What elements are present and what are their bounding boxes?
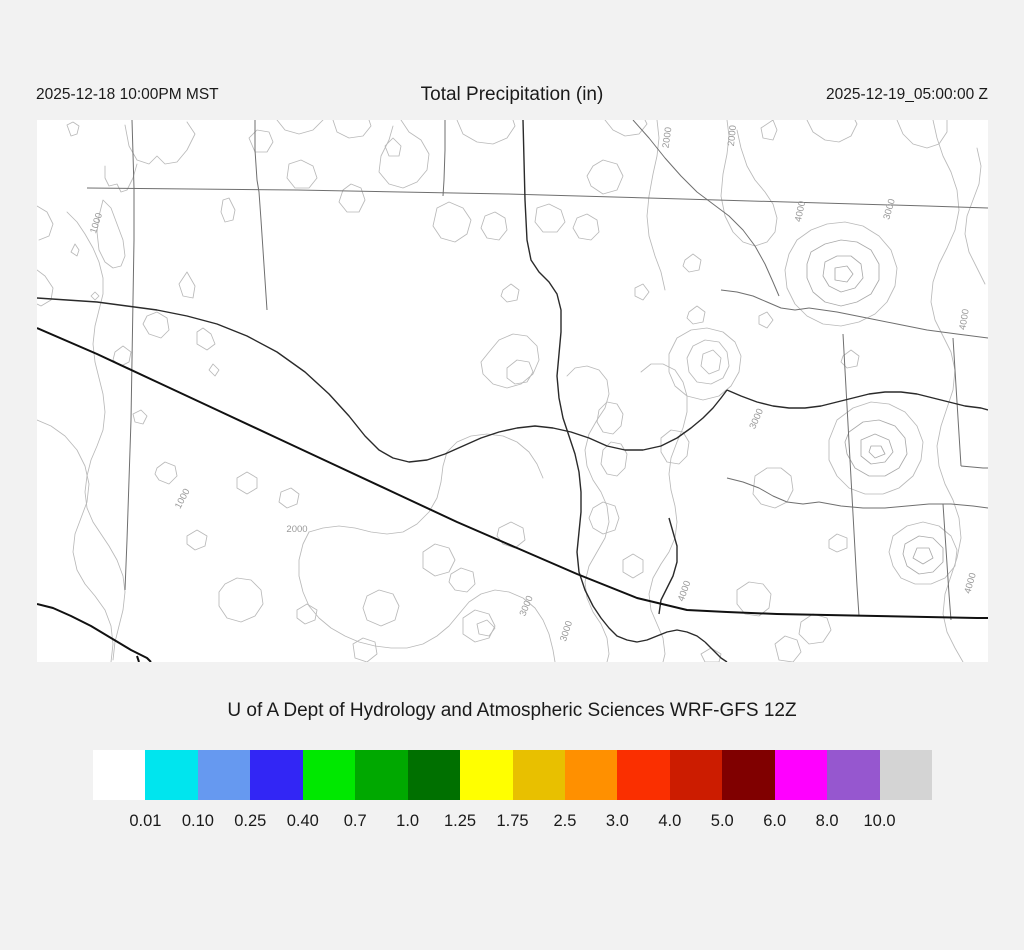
swatch-6.0[interactable]: [775, 750, 827, 800]
precipitation-colorbar[interactable]: [93, 750, 932, 800]
elevation-label-3000-3: 3000: [881, 198, 897, 221]
state-boundaries: [37, 120, 988, 662]
swatch-0.25[interactable]: [250, 750, 302, 800]
swatch-0.7[interactable]: [355, 750, 407, 800]
elevation-label-4000-11: 4000: [676, 579, 694, 603]
swatch-1.0[interactable]: [408, 750, 460, 800]
swatch-below-0.01[interactable]: [93, 750, 145, 800]
colorbar-tick-0.40: 0.40: [287, 812, 319, 831]
elevation-label-3000-6: 3000: [747, 407, 766, 431]
colorbar-tick-0.25: 0.25: [234, 812, 266, 831]
elevation-label-1000-0: 1000: [88, 211, 105, 235]
swatch-5.0[interactable]: [722, 750, 774, 800]
map-canvas: 1000200020003000400040003000100020003000…: [37, 120, 988, 662]
elevation-label-2000-2: 2000: [726, 125, 739, 147]
elevation-label-4000-4: 4000: [793, 200, 808, 223]
colorbar-tick-8.0: 8.0: [816, 812, 839, 831]
colorbar-tick-0.7: 0.7: [344, 812, 367, 831]
elevation-label-2000-1: 2000: [661, 126, 675, 148]
colorbar-tick-0.01: 0.01: [129, 812, 161, 831]
swatch-4.0[interactable]: [670, 750, 722, 800]
elevation-label-4000-5: 4000: [957, 308, 972, 331]
elevation-contour-labels: 1000200020003000400040003000100020003000…: [88, 125, 979, 643]
swatch-1.75[interactable]: [513, 750, 565, 800]
swatch-0.40[interactable]: [303, 750, 355, 800]
source-caption: U of A Dept of Hydrology and Atmospheric…: [0, 700, 1024, 722]
elevation-label-1000-7: 1000: [173, 487, 193, 511]
colorbar-tick-1.0: 1.0: [396, 812, 419, 831]
precipitation-map[interactable]: 1000200020003000400040003000100020003000…: [37, 120, 988, 662]
colorbar-tick-4.0: 4.0: [658, 812, 681, 831]
colorbar-tick-0.10: 0.10: [182, 812, 214, 831]
swatch-3.0[interactable]: [617, 750, 669, 800]
colorbar-tick-labels: 0.010.100.250.400.71.01.251.752.53.04.05…: [93, 812, 932, 834]
colorbar-tick-2.5: 2.5: [553, 812, 576, 831]
colorbar-swatches: [93, 750, 932, 800]
elevation-contours: [37, 120, 985, 662]
colorbar-tick-1.75: 1.75: [496, 812, 528, 831]
colorbar-tick-1.25: 1.25: [444, 812, 476, 831]
county-boundaries: [87, 120, 988, 620]
elevation-label-4000-12: 4000: [962, 572, 978, 595]
colorbar-tick-6.0: 6.0: [763, 812, 786, 831]
elevation-label-2000-8: 2000: [286, 524, 307, 535]
swatch-0.01[interactable]: [145, 750, 197, 800]
swatch-1.25[interactable]: [460, 750, 512, 800]
header-band: 2025-12-18 10:00PM MST Total Precipitati…: [0, 84, 1024, 112]
elevation-label-3000-10: 3000: [558, 619, 575, 643]
colorbar-tick-3.0: 3.0: [606, 812, 629, 831]
swatch-8.0[interactable]: [827, 750, 879, 800]
swatch-2.5[interactable]: [565, 750, 617, 800]
valid-time-utc: 2025-12-19_05:00:00 Z: [826, 86, 988, 104]
colorbar-tick-10.0: 10.0: [864, 812, 896, 831]
swatch-10.0[interactable]: [880, 750, 932, 800]
swatch-0.10[interactable]: [198, 750, 250, 800]
colorbar-tick-5.0: 5.0: [711, 812, 734, 831]
